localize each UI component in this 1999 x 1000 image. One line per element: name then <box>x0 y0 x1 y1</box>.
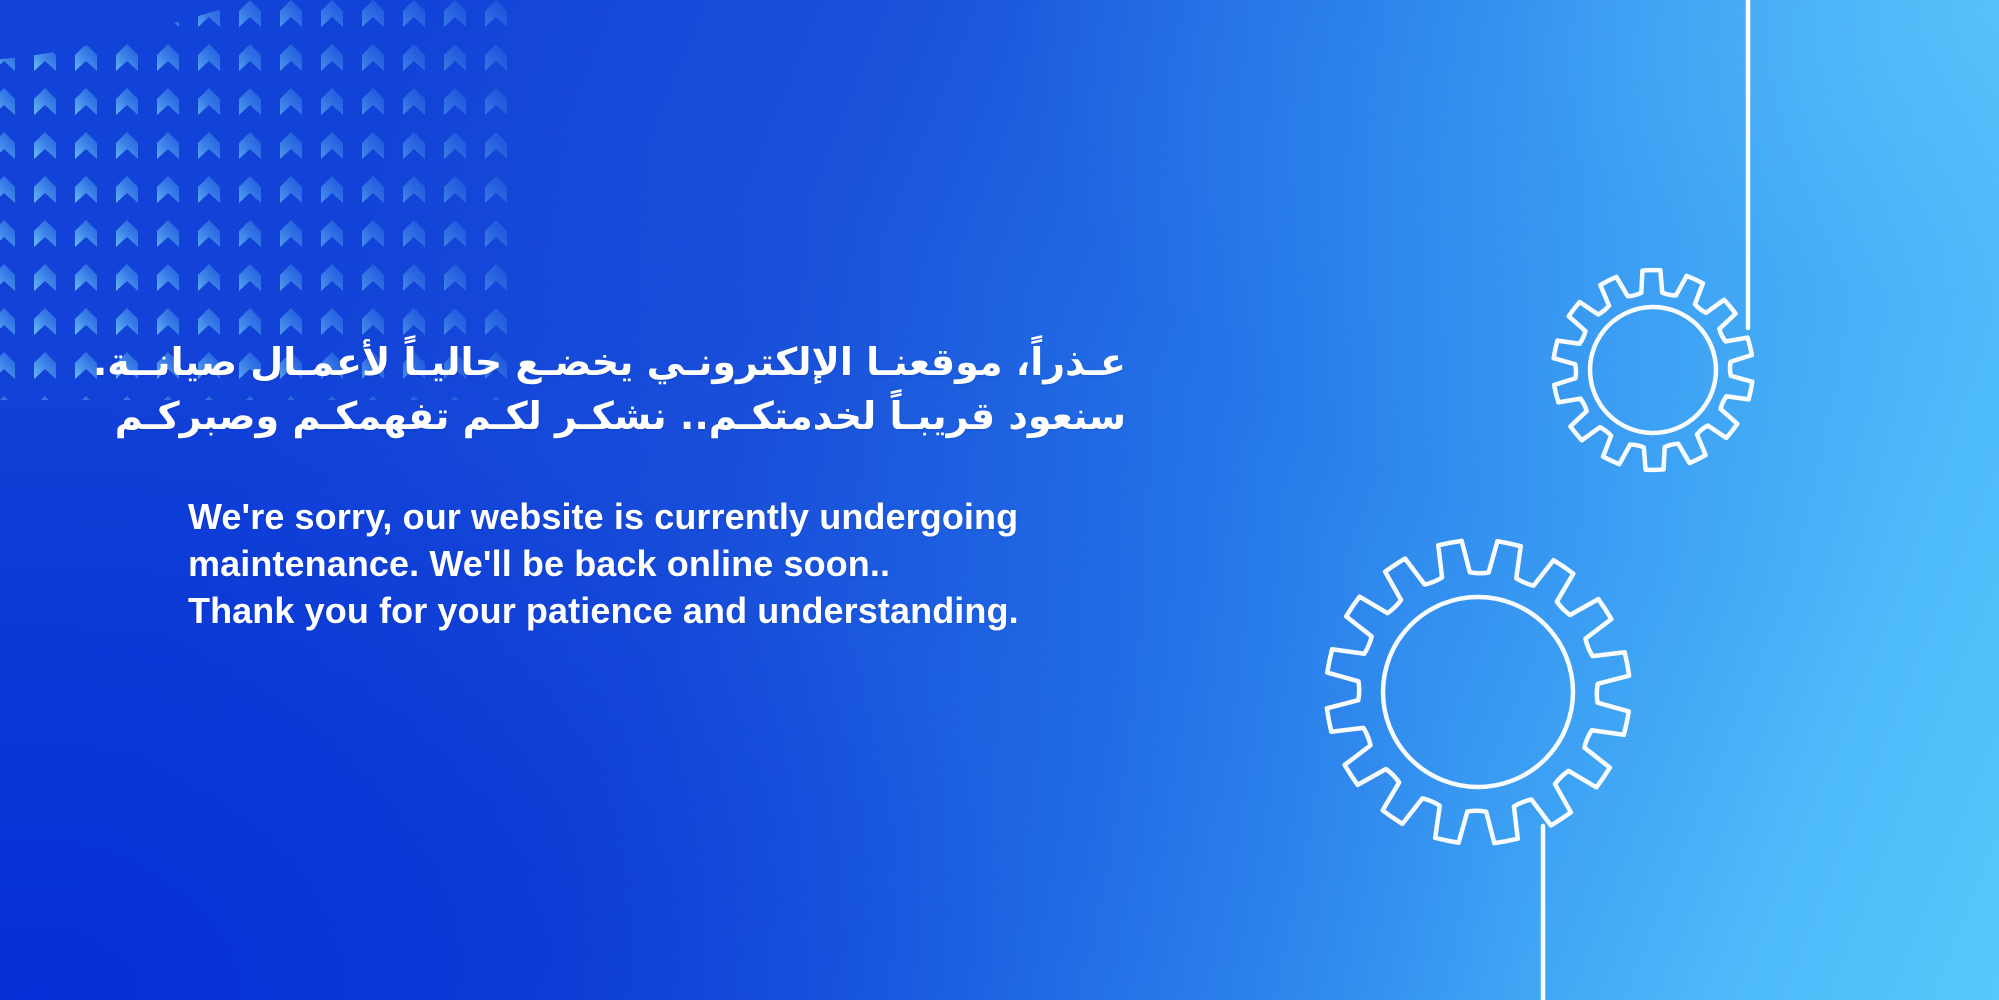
english-message-line-1: We're sorry, our website is currently un… <box>188 494 1188 541</box>
english-message-line-2: maintenance. We'll be back online soon.. <box>188 541 1188 588</box>
arabic-message-line-1: عـذراً، موقعنـا الإلكترونـي يخضـع حاليـا… <box>188 336 1126 390</box>
english-message-line-3: Thank you for your patience and understa… <box>188 588 1188 635</box>
maintenance-message: عـذراً، موقعنـا الإلكترونـي يخضـع حاليـا… <box>188 336 1188 634</box>
english-message: We're sorry, our website is currently un… <box>188 494 1188 634</box>
maintenance-page: عـذراً، موقعنـا الإلكترونـي يخضـع حاليـا… <box>0 0 1999 1000</box>
arabic-message-line-2: سنعود قريبـاً لخدمتكـم.. نشكـر لكـم تفهم… <box>188 390 1126 444</box>
arabic-message: عـذراً، موقعنـا الإلكترونـي يخضـع حاليـا… <box>188 336 1126 444</box>
